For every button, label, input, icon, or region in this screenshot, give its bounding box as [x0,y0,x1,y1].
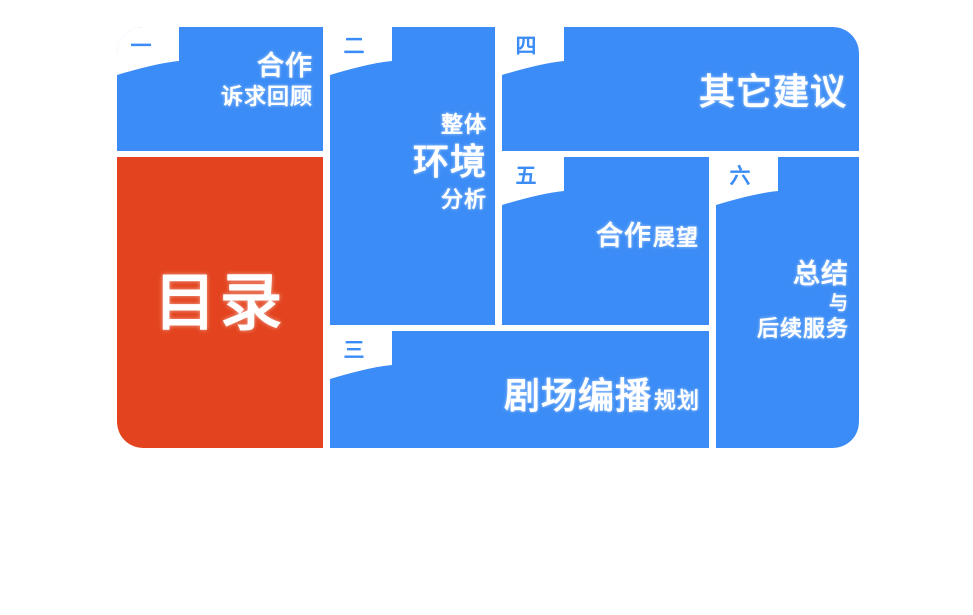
section-5-numeral: 五 [502,157,550,195]
section-1-line-1: 合作 [257,53,313,80]
reflection-fade [117,452,859,587]
toc-section-3[interactable]: 三 剧场编播 规划 [330,331,709,448]
section-1-label: 合作 诉求回顾 [221,53,313,109]
section-6-line-2: 与 [829,294,849,313]
section-3-line-2: 规划 [654,391,700,413]
section-2-line-1: 整体 [441,115,487,137]
toc-diagram: 一 合作 诉求回顾 目录 二 整体 环境 分析 [117,27,859,448]
section-6-label: 总结 与 后续服务 [757,261,849,341]
section-2-line-2: 环境 [413,145,487,181]
section-1-line-2: 诉求回顾 [221,87,313,109]
section-2-numeral: 二 [330,27,378,65]
diagram-reflection: 一 合作 诉求回顾 目录 二 整体 环境 分析 [117,452,859,587]
section-3-line-1: 剧场编播 [504,379,652,415]
section-5-line-1: 合作 [596,223,652,250]
toc-section-1[interactable]: 一 合作 诉求回顾 [117,27,323,151]
section-3-label: 剧场编播 规划 [504,379,700,415]
toc-section-4[interactable]: 四 其它建议 [502,27,859,151]
section-1-numeral: 一 [117,27,165,65]
title-block-label: 目录 [117,157,323,448]
section-4-label: 其它建议 [699,75,847,111]
section-6-numeral: 六 [716,157,764,195]
toc-title-block[interactable]: 目录 [117,157,323,448]
slide-canvas: 一 合作 诉求回顾 目录 二 整体 环境 分析 [0,0,973,615]
section-5-line-2: 展望 [653,228,699,250]
section-6-line-1: 总结 [793,261,849,288]
toc-section-5[interactable]: 五 合作 展望 [502,157,709,325]
section-6-line-3: 后续服务 [757,319,849,341]
toc-section-6[interactable]: 六 总结 与 后续服务 [716,157,859,448]
section-4-line-1: 其它建议 [699,72,847,113]
section-3-numeral: 三 [330,331,378,369]
section-2-line-3: 分析 [441,190,487,212]
toc-section-2[interactable]: 二 整体 环境 分析 [330,27,495,325]
section-5-label: 合作 展望 [596,223,699,250]
section-2-label: 整体 环境 分析 [413,115,487,212]
section-4-numeral: 四 [502,27,550,65]
